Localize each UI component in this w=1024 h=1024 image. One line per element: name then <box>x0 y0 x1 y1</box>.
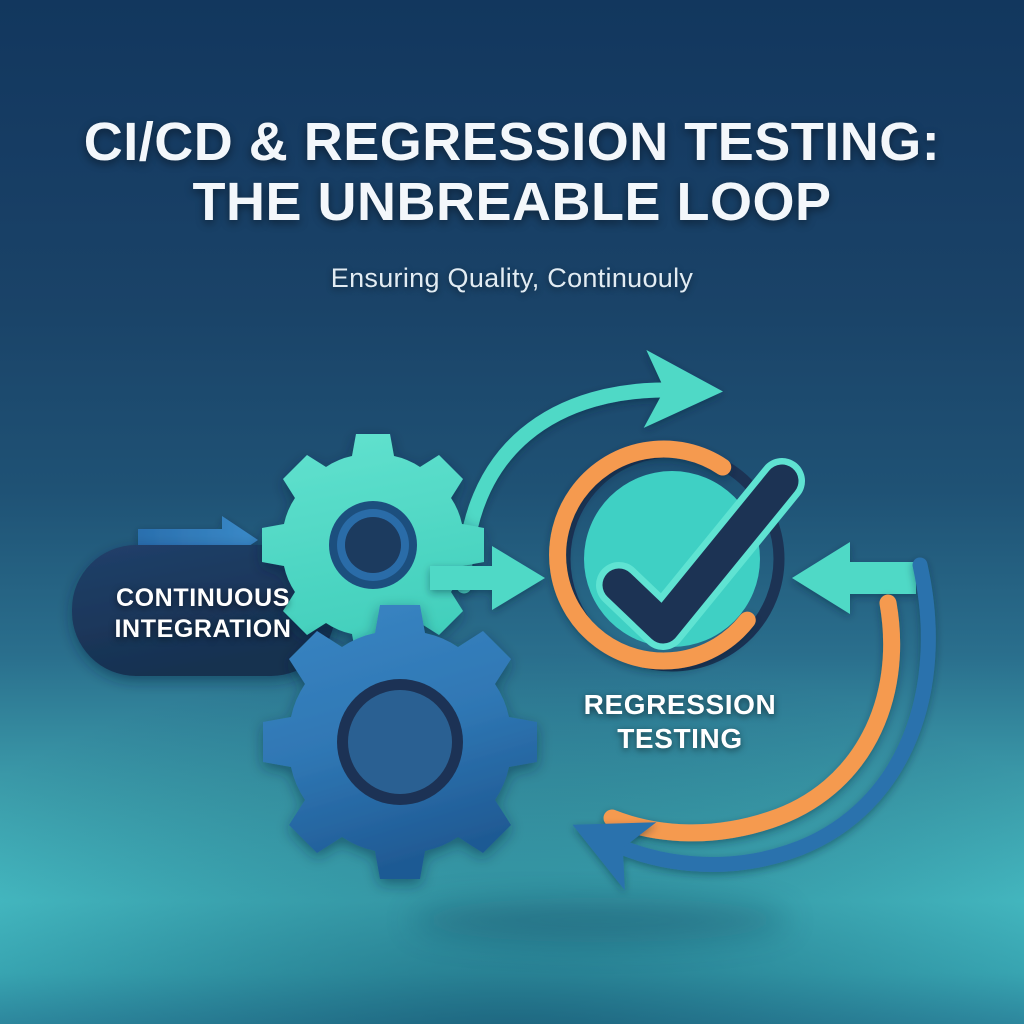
cycle-diagram <box>0 0 1024 1024</box>
arrow-left-teal-right-side <box>792 542 916 614</box>
node-label-regression-testing: REGRESSION TESTING <box>540 688 820 756</box>
node-regression-testing[interactable] <box>544 440 782 675</box>
node-label-continuous-integration: CONTINUOUS INTEGRATION <box>72 583 334 644</box>
infographic-poster: CI/CD & REGRESSION TESTING: THE UNBREABL… <box>0 0 1024 1024</box>
ground-shadow <box>410 898 790 942</box>
gear-icon-blue <box>263 605 537 879</box>
